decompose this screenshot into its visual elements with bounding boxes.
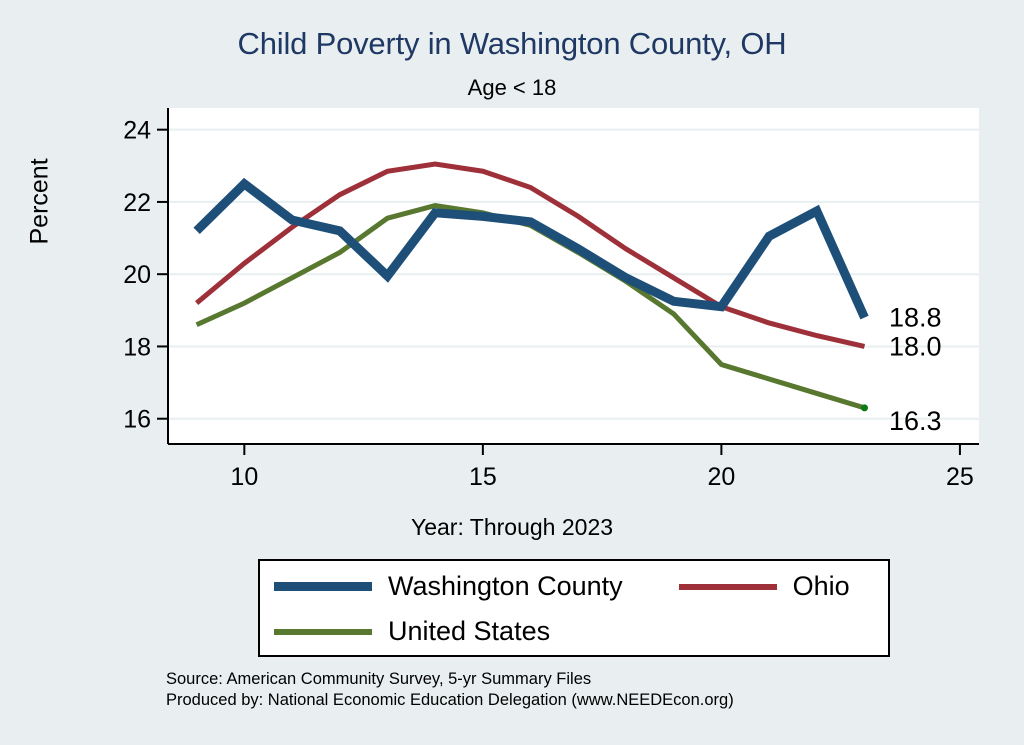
legend-entry-united-states[interactable]: United States [260, 616, 550, 647]
legend-entry-washington-county[interactable]: Washington County [260, 571, 623, 602]
legend-swatch-united-states [274, 629, 372, 635]
x-tick-label: 10 [230, 463, 258, 491]
legend-label-ohio: Ohio [793, 571, 850, 602]
y-tick-label: 16 [123, 406, 151, 434]
x-tick-label: 25 [946, 463, 974, 491]
y-tick-label: 18 [123, 333, 151, 361]
legend-label-united-states: United States [388, 616, 550, 647]
legend-swatch-ohio [679, 584, 777, 590]
footer-producer-line: Produced by: National Economic Education… [166, 690, 734, 711]
legend-row-2: United States [260, 609, 888, 654]
y-tick-label: 20 [123, 261, 151, 289]
y-tick-label: 22 [123, 189, 151, 217]
end-value-label: 18.0 [889, 331, 942, 361]
legend-entry-ohio[interactable]: Ohio [665, 571, 850, 602]
x-tick-label: 15 [469, 463, 497, 491]
footer-source-line: Source: American Community Survey, 5-yr … [166, 669, 734, 690]
chart-figure: Child Poverty in Washington County, OH A… [0, 0, 1024, 745]
legend-label-washington-county: Washington County [388, 571, 623, 602]
legend-swatch-washington-county [274, 582, 372, 591]
chart-legend: Washington County Ohio United States [258, 559, 890, 657]
legend-row-1: Washington County Ohio [260, 564, 888, 609]
end-value-label: 16.3 [889, 406, 942, 436]
x-tick-label: 20 [707, 463, 735, 491]
end-value-label: 18.8 [889, 303, 942, 333]
y-tick-label: 24 [123, 117, 151, 145]
chart-footer: Source: American Community Survey, 5-yr … [166, 669, 734, 711]
